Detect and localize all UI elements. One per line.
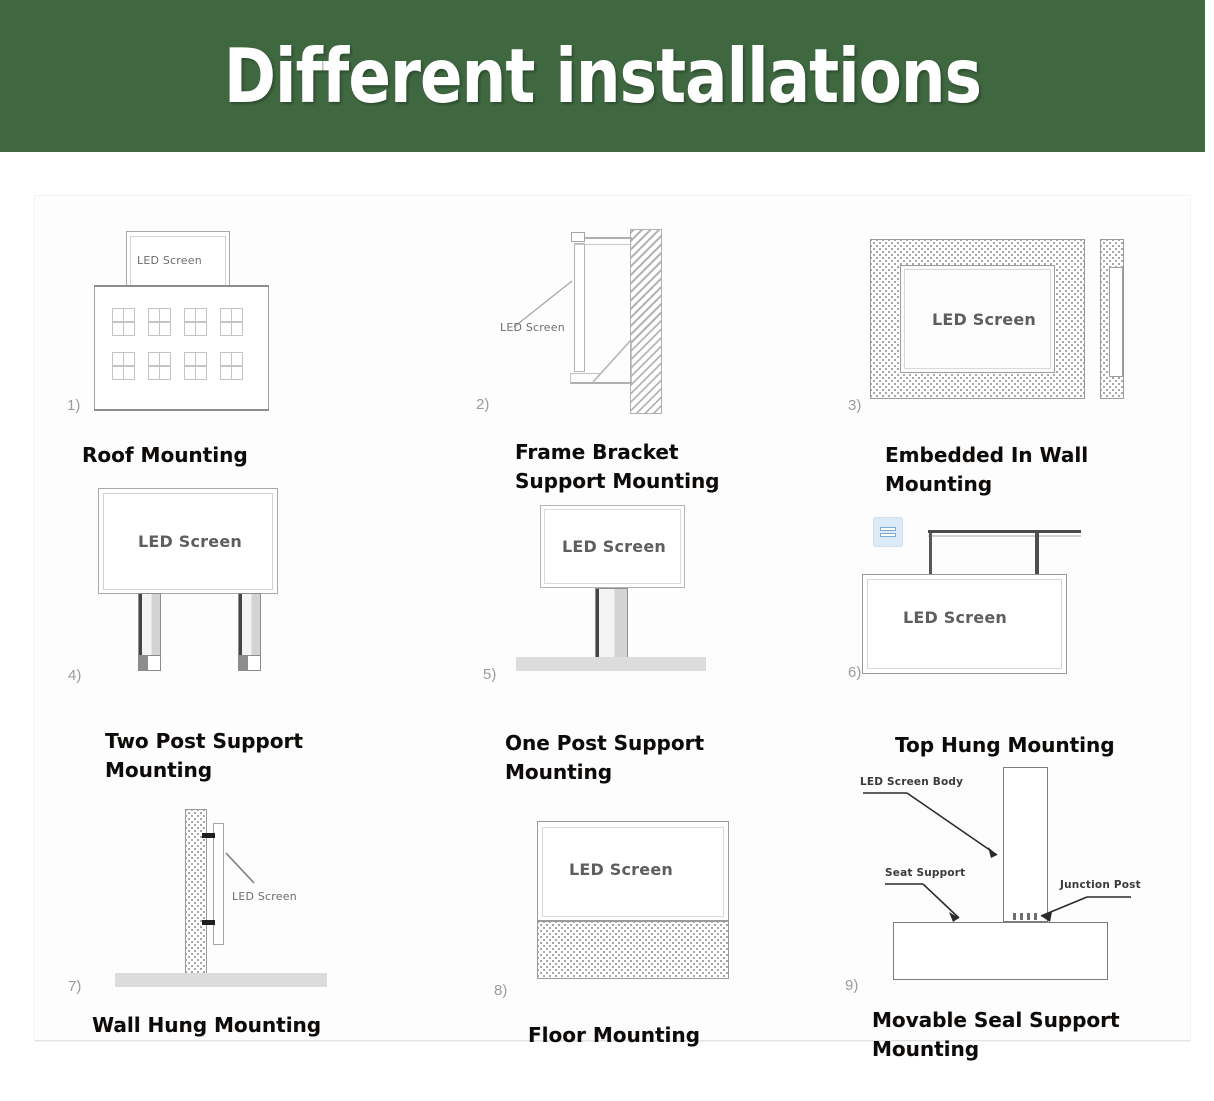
building-window <box>220 352 243 380</box>
ground-bar <box>115 973 327 987</box>
callout-leaders <box>845 755 1205 1005</box>
floor-screen-label: LED Screen <box>569 860 673 879</box>
figure-index: 9) <box>845 977 858 994</box>
installation-card-embedded-in-wall: LED Screen 3) <box>845 215 1205 465</box>
callout-seat-support: Seat Support <box>885 867 965 879</box>
caption-wall-hung: Wall Hung Mounting <box>92 1011 432 1040</box>
post-base-right <box>238 655 261 671</box>
building-window <box>184 352 207 380</box>
floor-base-block <box>537 921 729 979</box>
caption-two-post: Two Post Support Mounting <box>105 727 445 785</box>
building-window <box>220 308 243 336</box>
figure-index: 7) <box>68 978 81 995</box>
hanger-right <box>1035 533 1039 576</box>
screen-leader-line <box>470 215 840 465</box>
installation-card-wall-hung: LED Screen 7) <box>60 795 440 995</box>
figure-index: 4) <box>68 667 81 684</box>
figure-index: 1) <box>67 397 80 414</box>
caption-roof-mounting: Roof Mounting <box>82 441 412 470</box>
two-post-screen-label: LED Screen <box>138 532 242 551</box>
figure-index: 8) <box>494 982 507 999</box>
installation-card-frame-bracket: LED Screen 2) <box>470 215 840 465</box>
caption-one-post: One Post Support Mounting <box>505 729 845 787</box>
building-window <box>148 352 171 380</box>
top-hung-screen-label: LED Screen <box>903 608 1007 627</box>
page-title: Different installations <box>42 0 1163 152</box>
building-window <box>148 308 171 336</box>
one-post-screen-label: LED Screen <box>562 537 666 556</box>
post-base-left <box>138 655 161 671</box>
callout-led-screen-body: LED Screen Body <box>860 776 963 788</box>
figure-index: 5) <box>483 666 496 683</box>
figure-index: 6) <box>848 664 861 681</box>
caption-floor: Floor Mounting <box>528 1021 868 1050</box>
roof-screen-label: LED Screen <box>137 254 202 267</box>
callout-junction-post: Junction Post <box>1060 879 1141 891</box>
building-body <box>94 286 269 410</box>
installation-card-two-post: LED Screen 4) <box>60 485 440 700</box>
building-window <box>112 352 135 380</box>
embedded-screen-side <box>1109 267 1123 377</box>
ground-bar <box>516 657 706 671</box>
building-base-shadow <box>94 409 269 411</box>
center-support-post <box>595 588 628 658</box>
installation-card-floor: LED Screen 8) <box>470 805 840 1005</box>
installation-card-roof-mounting: LED Screen 1) <box>60 215 440 465</box>
building-window <box>184 308 207 336</box>
building-window <box>112 308 135 336</box>
figure-index: 3) <box>848 397 861 414</box>
hanger-left <box>929 533 932 576</box>
building-roof-shadow <box>94 285 269 287</box>
screen-callout-label: LED Screen <box>500 321 565 334</box>
header-banner: Different installations <box>0 0 1205 152</box>
figure-index: 2) <box>476 396 489 413</box>
wall-hung-screen-label: LED Screen <box>232 890 297 903</box>
installation-card-one-post: LED Screen 5) <box>470 485 840 700</box>
overhead-beam-lower <box>928 535 1081 537</box>
installation-card-movable-seal: LED Screen Body Seat Support Junction Po… <box>845 755 1205 1005</box>
image-placeholder-icon <box>873 517 903 547</box>
overhead-beam <box>928 530 1081 533</box>
embedded-screen-label: LED Screen <box>932 310 1036 329</box>
installation-card-top-hung: LED Screen 6) <box>845 490 1205 705</box>
caption-movable-seal: Movable Seal Support Mounting <box>872 1006 1212 1064</box>
